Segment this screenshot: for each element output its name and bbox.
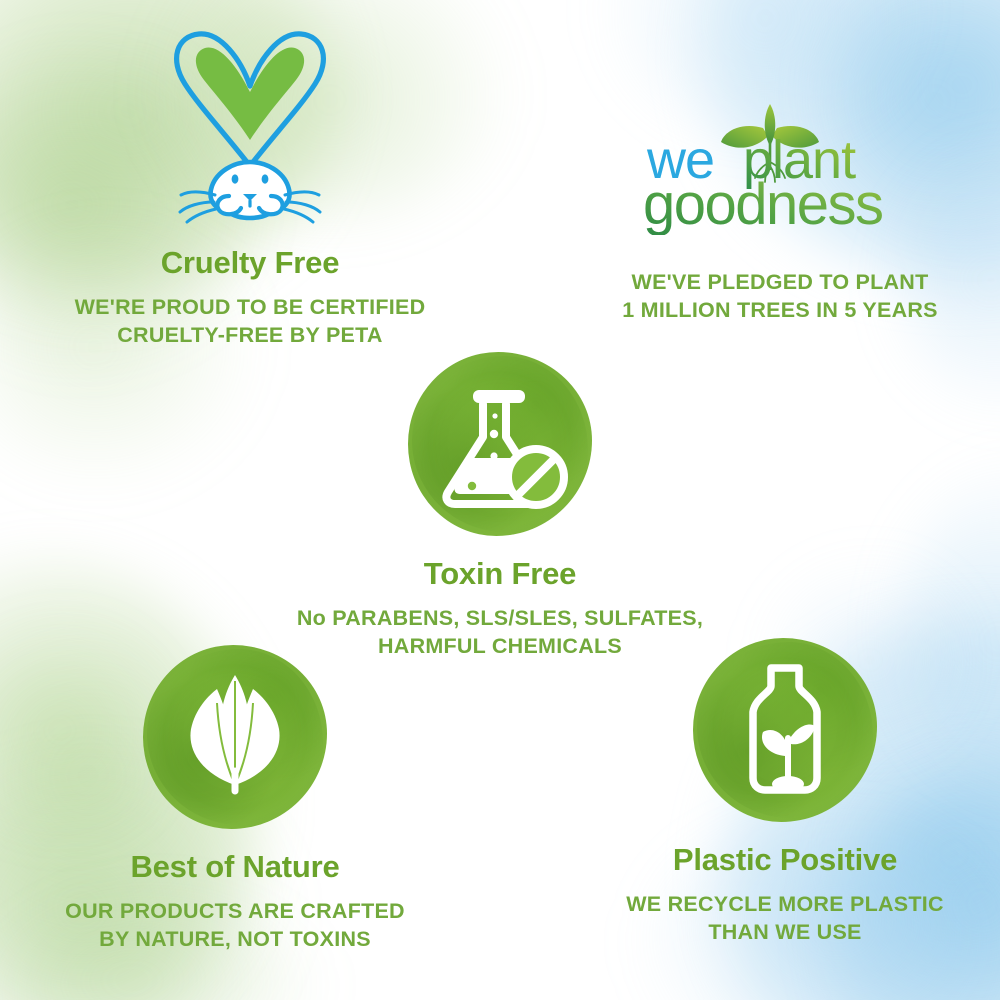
plastic-positive-subtitle: WE RECYCLE MORE PLASTIC THAN WE USE [545, 891, 1000, 946]
we-plant-goodness-subtitle-line-2: 1 MILLION TREES IN 5 YEARS [560, 297, 1000, 325]
best-of-nature-subtitle-line-1: OUR PRODUCTS ARE CRAFTED [0, 898, 475, 926]
we-plant-goodness-subtitle: WE'VE PLEDGED TO PLANT 1 MILLION TREES I… [560, 269, 1000, 324]
badge-we-plant-goodness: we plant goodness WE'VE PLEDGED TO PLANT… [560, 100, 1000, 324]
flask-bubble-1 [492, 413, 497, 418]
badge-toxin-free: Toxin Free No PARABENS, SLS/SLES, SULFAT… [260, 352, 740, 660]
soil-mound [772, 776, 804, 792]
best-of-nature-disc [143, 645, 327, 829]
bunny-eye-left [232, 174, 239, 183]
plastic-positive-subtitle-line-2: THAN WE USE [545, 919, 1000, 947]
best-of-nature-subtitle-line-2: BY NATURE, NOT TOXINS [0, 926, 475, 954]
bunny-whisker-r1 [285, 192, 319, 195]
we-plant-goodness-logo-wrap: we plant goodness [560, 100, 1000, 235]
we-plant-goodness-logo: we plant goodness [635, 100, 925, 235]
flask-no-entry-icon [408, 352, 592, 536]
best-of-nature-title: Best of Nature [0, 850, 475, 884]
cruelty-free-icon-wrap [10, 28, 490, 228]
peta-bunny-heart-icon [155, 28, 345, 228]
logo-word-goodness: goodness [643, 172, 883, 235]
sprout-leaf-left [762, 730, 787, 756]
bunny-heart-fill [196, 47, 304, 140]
badge-plastic-positive: Plastic Positive WE RECYCLE MORE PLASTIC… [545, 638, 1000, 946]
plastic-positive-title: Plastic Positive [545, 843, 1000, 877]
badge-best-of-nature: Best of Nature OUR PRODUCTS ARE CRAFTED … [0, 645, 475, 953]
bottle-with-sprout-icon [693, 638, 877, 822]
best-of-nature-subtitle: OUR PRODUCTS ARE CRAFTED BY NATURE, NOT … [0, 898, 475, 953]
flask-bubble-2 [490, 430, 498, 438]
bunny-whisker-l1 [181, 192, 215, 195]
cruelty-free-subtitle-line-1: WE'RE PROUD TO BE CERTIFIED [10, 294, 490, 322]
flask-bubble-4 [468, 482, 476, 490]
cruelty-free-title: Cruelty Free [10, 246, 490, 280]
eco-claims-poster: Cruelty Free WE'RE PROUD TO BE CERTIFIED… [0, 0, 1000, 1000]
bunny-whisker-l3 [187, 209, 216, 222]
flask-bubble-3 [490, 452, 497, 459]
toxin-free-icon-wrap [260, 352, 740, 536]
best-of-nature-icon-wrap [0, 645, 475, 829]
sprout-leaf-right [789, 725, 815, 745]
plastic-positive-disc [693, 638, 877, 822]
toxin-free-title: Toxin Free [260, 557, 740, 591]
bunny-eye-right [262, 174, 269, 183]
toxin-free-disc [408, 352, 592, 536]
bunny-whisker-r3 [284, 209, 313, 222]
cruelty-free-subtitle: WE'RE PROUD TO BE CERTIFIED CRUELTY-FREE… [10, 294, 490, 349]
plastic-positive-icon-wrap [545, 638, 1000, 822]
cruelty-free-subtitle-line-2: CRUELTY-FREE BY PETA [10, 322, 490, 350]
toxin-free-subtitle-line-1-text: No PARABENS, SLS/SLES, SULFATES, [297, 606, 703, 630]
we-plant-goodness-subtitle-line-1: WE'VE PLEDGED TO PLANT [560, 269, 1000, 297]
plastic-positive-subtitle-line-1: WE RECYCLE MORE PLASTIC [545, 891, 1000, 919]
toxin-free-subtitle-line-1: No PARABENS, SLS/SLES, SULFATES, [260, 605, 740, 633]
badge-cruelty-free: Cruelty Free WE'RE PROUD TO BE CERTIFIED… [10, 28, 490, 349]
three-leaf-plant-icon [143, 645, 327, 829]
